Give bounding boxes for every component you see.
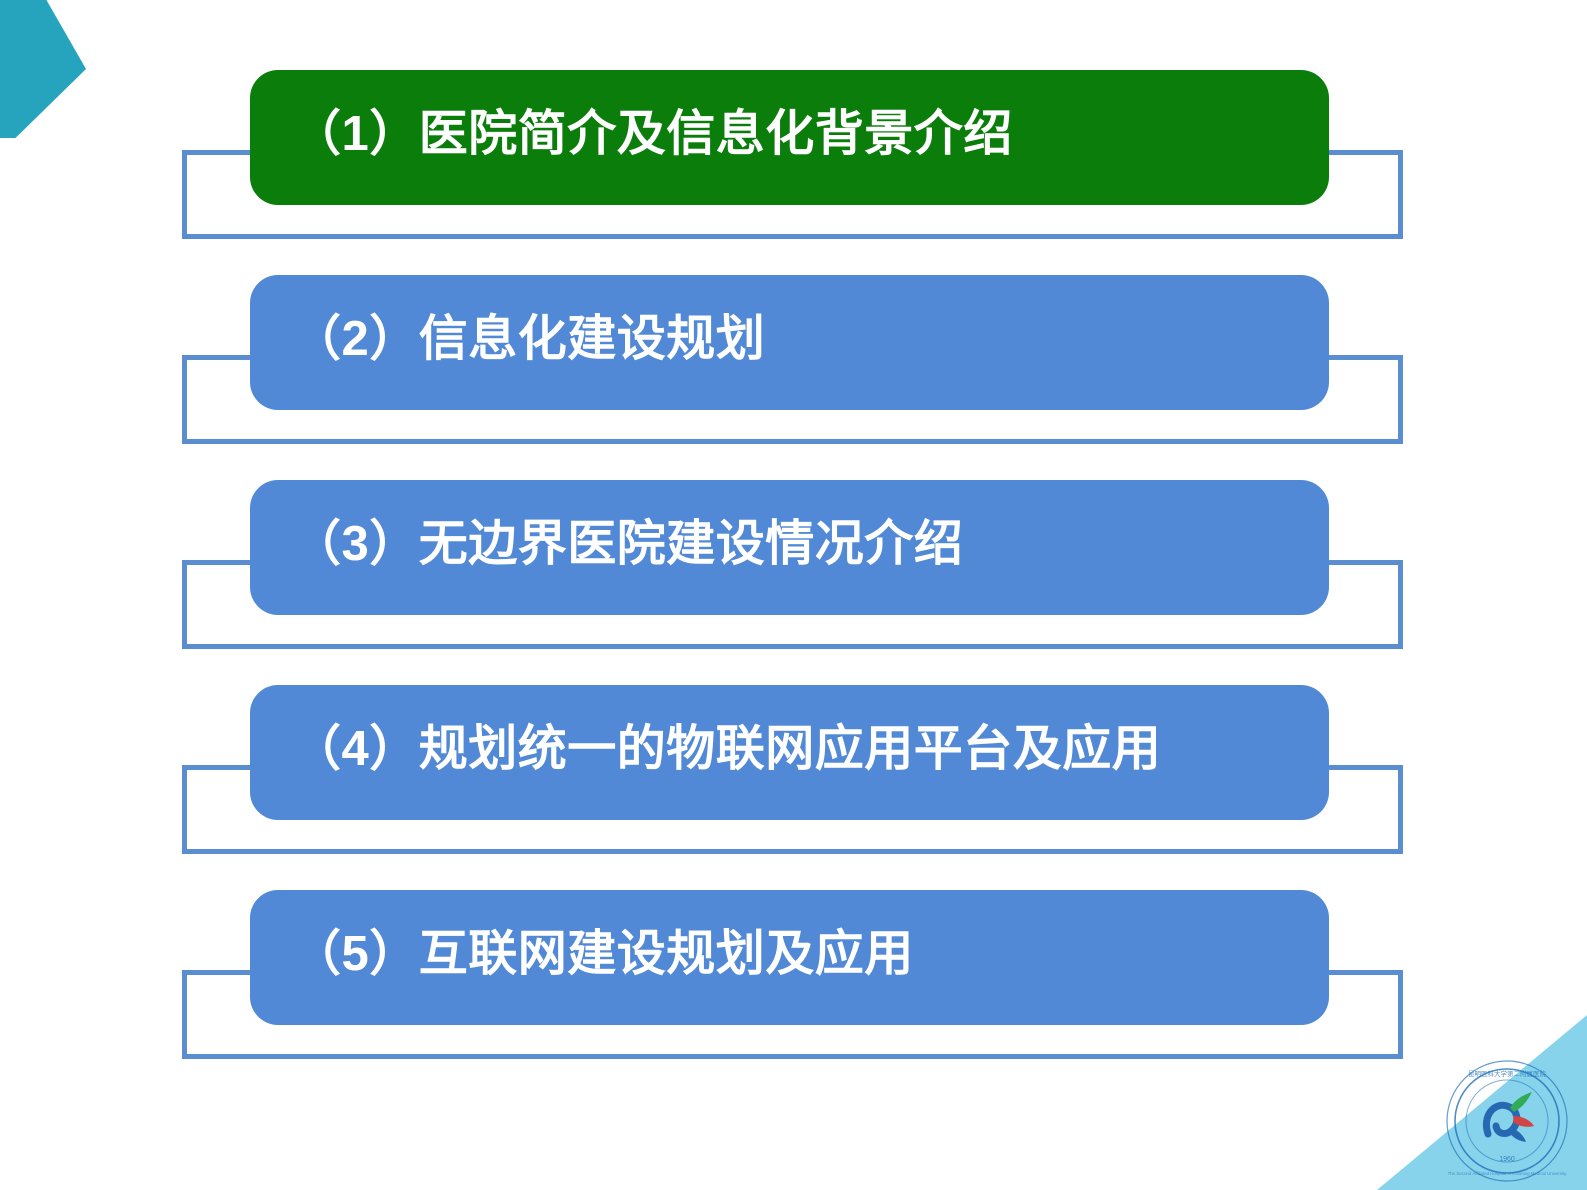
agenda-item-label-4: （4）规划统一的物联网应用平台及应用 xyxy=(250,724,1161,781)
agenda-pill-5[interactable]: （5）互联网建设规划及应用 xyxy=(250,890,1329,1025)
agenda-list: （1）医院简介及信息化背景介绍 （2）信息化建设规划 （3）无边界医院建设情况介… xyxy=(0,0,1587,1190)
agenda-row-3[interactable]: （3）无边界医院建设情况介绍 xyxy=(0,472,1587,677)
agenda-item-label-2: （2）信息化建设规划 xyxy=(250,314,765,371)
agenda-pill-4[interactable]: （4）规划统一的物联网应用平台及应用 xyxy=(250,685,1329,820)
agenda-item-label-5: （5）互联网建设规划及应用 xyxy=(250,929,914,986)
agenda-item-label-3: （3）无边界医院建设情况介绍 xyxy=(250,519,963,576)
agenda-row-4[interactable]: （4）规划统一的物联网应用平台及应用 xyxy=(0,677,1587,882)
agenda-item-label-1: （1）医院简介及信息化背景介绍 xyxy=(250,109,1013,166)
agenda-row-5[interactable]: （5）互联网建设规划及应用 xyxy=(0,882,1587,1087)
agenda-pill-3[interactable]: （3）无边界医院建设情况介绍 xyxy=(250,480,1329,615)
agenda-row-2[interactable]: （2）信息化建设规划 xyxy=(0,267,1587,472)
agenda-row-1[interactable]: （1）医院简介及信息化背景介绍 xyxy=(0,62,1587,267)
agenda-pill-1[interactable]: （1）医院简介及信息化背景介绍 xyxy=(250,70,1329,205)
slide-canvas: 1960 昆明医科大学第二附属医院 The Second Affiliated … xyxy=(0,0,1587,1190)
agenda-pill-2[interactable]: （2）信息化建设规划 xyxy=(250,275,1329,410)
